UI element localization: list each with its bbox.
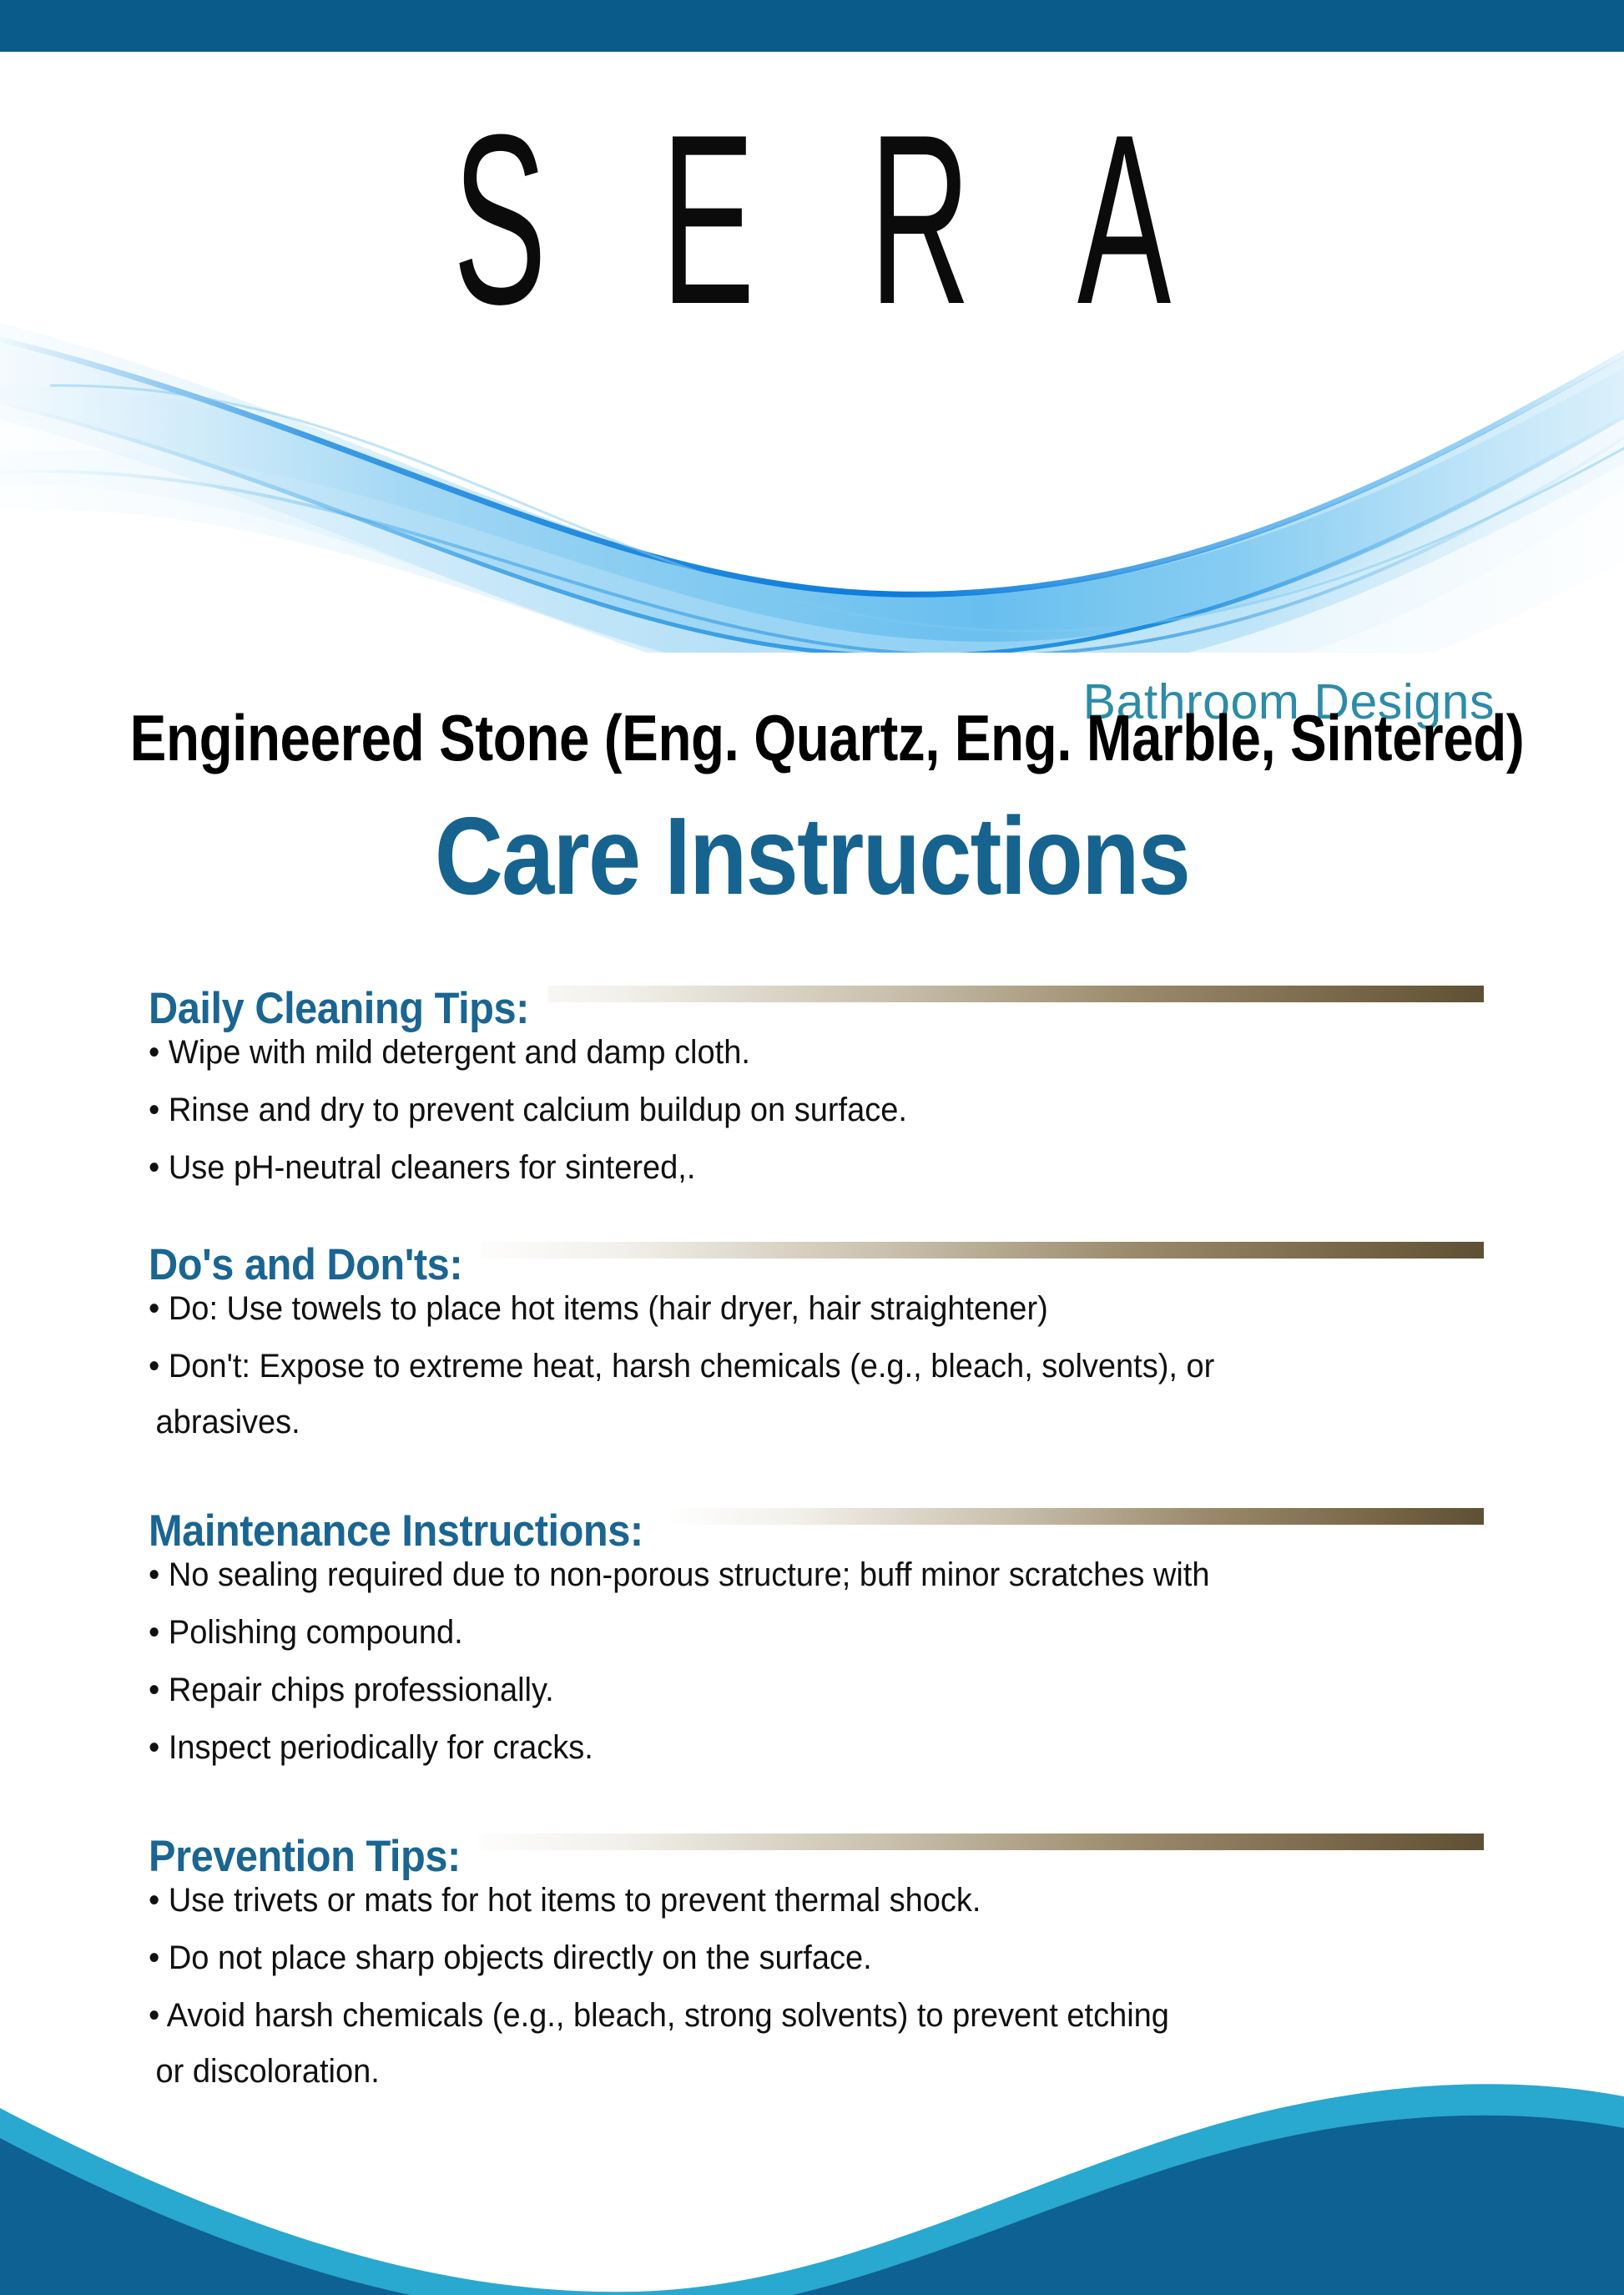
- list-item: • Polishing compound.: [149, 1616, 1417, 1649]
- section-header: Daily Cleaning Tips:: [149, 981, 1484, 1036]
- list-item: • Don't: Expose to extreme heat, harsh c…: [149, 1349, 1417, 1439]
- logo-area: S E R A: [0, 52, 1624, 686]
- section-title: Daily Cleaning Tips:: [149, 983, 547, 1034]
- section-prevention-tips: Prevention Tips: • Use trivets or mats f…: [149, 1828, 1484, 2088]
- section-dos-and-donts: Do's and Don'ts: • Do: Use towels to pla…: [149, 1237, 1484, 1439]
- spacer: [149, 1788, 1484, 1828]
- section-divider-rule: [457, 986, 1484, 1002]
- list-item: • Wipe with mild detergent and damp clot…: [149, 1036, 1417, 1069]
- list-item: • Use pH-neutral cleaners for sintered,.: [149, 1151, 1417, 1184]
- list-item: • Avoid harsh chemicals (e.g., bleach, s…: [149, 1999, 1417, 2088]
- list-item: • Inspect periodically for cracks.: [149, 1731, 1417, 1764]
- section-title: Prevention Tips:: [149, 1831, 479, 1882]
- list-item-text: • Avoid harsh chemicals (e.g., bleach, s…: [149, 1997, 1169, 2034]
- section-maintenance-instructions: Maintenance Instructions: • No sealing r…: [149, 1503, 1484, 1764]
- list-item: • No sealing required due to non-porous …: [149, 1558, 1417, 1591]
- section-title: Maintenance Instructions:: [149, 1506, 662, 1556]
- section-daily-cleaning-tips: Daily Cleaning Tips: • Wipe with mild de…: [149, 981, 1484, 1184]
- section-header: Do's and Don'ts:: [149, 1237, 1484, 1292]
- section-header: Prevention Tips:: [149, 1828, 1484, 1884]
- list-item: • Rinse and dry to prevent calcium build…: [149, 1093, 1417, 1127]
- bullet-list: • Do: Use towels to place hot items (hai…: [149, 1292, 1484, 1439]
- section-title: Do's and Don'ts:: [149, 1239, 481, 1290]
- list-item: • Do not place sharp objects directly on…: [149, 1941, 1417, 1975]
- section-divider-rule: [666, 1508, 1484, 1525]
- list-item: • Repair chips professionally.: [149, 1673, 1417, 1707]
- care-instructions-content: Daily Cleaning Tips: • Wipe with mild de…: [149, 981, 1484, 2112]
- bullet-list: • Wipe with mild detergent and damp clot…: [149, 1036, 1484, 1184]
- list-item: • Do: Use towels to place hot items (hai…: [149, 1292, 1417, 1325]
- bullet-list: • No sealing required due to non-porous …: [149, 1558, 1484, 1764]
- section-header: Maintenance Instructions:: [149, 1503, 1484, 1558]
- spacer: [149, 1463, 1484, 1503]
- list-item: • Use trivets or mats for hot items to p…: [149, 1884, 1417, 1917]
- section-divider-rule: [457, 1833, 1484, 1850]
- top-accent-bar: [0, 0, 1624, 52]
- list-item-continuation: abrasives.: [149, 1405, 1417, 1439]
- sera-wordmark: S E R A: [341, 108, 1284, 331]
- spacer: [149, 1208, 1484, 1237]
- page-title: Care Instructions: [113, 801, 1511, 911]
- blue-wave-ribbon-graphic: [0, 302, 1624, 653]
- list-item-continuation: or discoloration.: [149, 2055, 1417, 2088]
- section-divider-rule: [457, 1242, 1484, 1258]
- bullet-list: • Use trivets or mats for hot items to p…: [149, 1884, 1484, 2088]
- product-line-heading: Engineered Stone (Eng. Quartz, Eng. Marb…: [130, 705, 1495, 770]
- list-item-text: • Don't: Expose to extreme heat, harsh c…: [149, 1348, 1214, 1385]
